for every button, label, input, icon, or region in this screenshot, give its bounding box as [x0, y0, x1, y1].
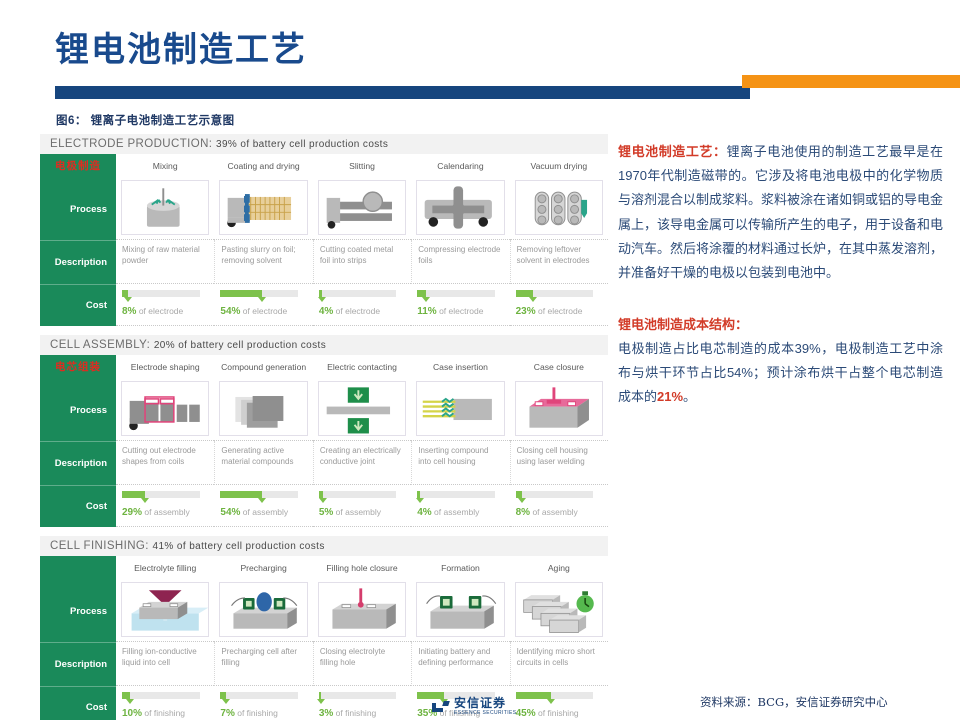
cost-percent: 4% [417, 507, 431, 518]
logo-name-cn: 安信证券 [454, 697, 517, 711]
process-illustration-cell [214, 580, 312, 642]
section-header: CELL FINISHING: 41% of battery cell prod… [40, 536, 608, 556]
cost-percent: 54% [220, 306, 240, 317]
electric-contacting-icon [318, 381, 406, 436]
process-step-label: Slitting [313, 154, 411, 178]
note-block-2-heading: 锂电池制造成本结构： [618, 313, 943, 337]
process-step-column[interactable]: Case insertionInserting compound into ce… [411, 355, 509, 527]
cost-label: 45% of finishing [516, 708, 600, 719]
process-step-column[interactable]: Electric contactingCreating an electrica… [313, 355, 411, 527]
section-rail: 电极制造ProcessDescriptionCost [40, 154, 116, 326]
section-cost-share: 20% of battery cell production costs [154, 340, 326, 351]
cost-percent: 54% [220, 507, 240, 518]
cost-bar [516, 491, 594, 498]
header-rule-orange [742, 75, 960, 88]
process-step-description: Removing leftover solvent in electrodes [510, 240, 608, 284]
vacuum-oven-icon [515, 180, 603, 235]
process-step-cost: 11% of electrode [411, 284, 509, 326]
section-cost-share: 41% of battery cell production costs [152, 541, 324, 552]
cost-label: 4% of assembly [417, 507, 501, 518]
case-insertion-icon [416, 381, 504, 436]
cost-percent: 7% [220, 708, 234, 719]
process-illustration-cell [313, 379, 411, 441]
process-step-label: Electrode shaping [116, 355, 214, 379]
cost-bar [122, 692, 200, 699]
process-step-cost: 8% of electrode [116, 284, 214, 326]
cost-unit: of assembly [434, 507, 479, 517]
cost-percent: 3% [319, 708, 333, 719]
process-step-label: Electrolyte filling [116, 556, 214, 580]
section-columns: Electrolyte fillingFilling ion-conductiv… [116, 556, 608, 720]
cost-unit: of electrode [336, 306, 380, 316]
process-step-cost: 5% of assembly [313, 485, 411, 527]
process-illustration-cell [313, 178, 411, 240]
process-step-label: Case closure [510, 355, 608, 379]
process-step-description: Filling ion-conductive liquid into cell [116, 642, 214, 686]
section-cost-share: 39% of battery cell production costs [216, 139, 388, 150]
cost-bar [417, 290, 495, 297]
cost-bar [122, 491, 200, 498]
cost-unit: of assembly [336, 507, 381, 517]
process-step-column[interactable]: SlittingCutting coated metal foil into s… [313, 154, 411, 326]
aging-stopwatch-icon [515, 582, 603, 637]
process-step-column[interactable]: Electrolyte fillingFilling ion-conductiv… [116, 556, 214, 720]
cost-percent: 45% [516, 708, 536, 719]
cost-bar [319, 491, 397, 498]
electrode-shaping-icon [121, 381, 209, 436]
logo-name-en: ESSENCE SECURITIES [454, 711, 517, 717]
cost-unit: of finishing [538, 708, 579, 718]
rail-label-process: Process [40, 178, 116, 240]
rail-label-description: Description [40, 441, 116, 485]
cost-unit: of finishing [336, 708, 377, 718]
cost-label: 3% of finishing [319, 708, 403, 719]
process-illustration-cell [214, 379, 312, 441]
process-step-label: Aging [510, 556, 608, 580]
process-step-description: Pasting slurry on foil; removing solvent [214, 240, 312, 284]
rail-title-cn: 电芯组装 [40, 355, 116, 379]
slide-page: 锂电池制造工艺 图6： 锂离子电池制造工艺示意图 ELECTRODE PRODU… [0, 0, 960, 720]
cost-percent: 23% [516, 306, 536, 317]
rail-label-description: Description [40, 642, 116, 686]
rail-label-cost: Cost [40, 485, 116, 527]
cost-bar [516, 290, 594, 297]
diagram-section: CELL ASSEMBLY: 20% of battery cell produ… [40, 335, 608, 527]
cost-bar [220, 692, 298, 699]
process-step-column[interactable]: AgingIdentifying micro short circuits in… [510, 556, 608, 720]
diagram-section: ELECTRODE PRODUCTION: 39% of battery cel… [40, 134, 608, 326]
cost-percent: 5% [319, 507, 333, 518]
process-step-label: Coating and drying [214, 154, 312, 178]
process-step-column[interactable]: Coating and dryingPasting slurry on foil… [214, 154, 312, 326]
process-step-cost: 8% of assembly [510, 485, 608, 527]
cost-unit: of electrode [243, 306, 287, 316]
source-note: 资料来源：BCG，安信证券研究中心 [700, 694, 888, 710]
cost-bar [220, 290, 298, 297]
rail-label-process: Process [40, 580, 116, 642]
note-block-1-body: 锂离子电池使用的制造工艺最早是在1970年代制造磁带的。它涉及将电池电极中的化学… [618, 144, 943, 280]
note-block-2-highlight: 21% [657, 389, 683, 404]
cost-percent: 4% [319, 306, 333, 317]
process-step-description: Closing cell housing using laser welding [510, 441, 608, 485]
process-step-column[interactable]: Vacuum dryingRemoving leftover solvent i… [510, 154, 608, 326]
slitting-blade-icon [318, 180, 406, 235]
diagram-section: CELL FINISHING: 41% of battery cell prod… [40, 536, 608, 720]
cost-unit: of electrode [139, 306, 183, 316]
section-name: ELECTRODE PRODUCTION: [50, 138, 212, 150]
hole-closure-icon [318, 582, 406, 637]
formation-icon [416, 582, 504, 637]
process-step-cost: 4% of electrode [313, 284, 411, 326]
process-step-label: Calendaring [411, 154, 509, 178]
section-columns: Electrode shapingCutting out electrode s… [116, 355, 608, 527]
process-illustration-cell [116, 580, 214, 642]
process-step-description: Compressing electrode foils [411, 240, 509, 284]
cost-label: 10% of finishing [122, 708, 206, 719]
process-step-column[interactable]: Filling hole closureClosing electrolyte … [313, 556, 411, 720]
process-step-cost: 45% of finishing [510, 686, 608, 720]
rail-title-cn: 电极制造 [40, 154, 116, 178]
cost-bar [319, 692, 397, 699]
note-block-1-heading: 锂电池制造工艺： [618, 144, 727, 159]
cost-label: 54% of assembly [220, 507, 304, 518]
process-illustration-cell [510, 379, 608, 441]
process-step-description: Generating active material compounds [214, 441, 312, 485]
cost-percent: 8% [122, 306, 136, 317]
cost-bar [516, 692, 594, 699]
cost-label: 11% of electrode [417, 306, 501, 317]
figure-caption: 图6： 锂离子电池制造工艺示意图 [56, 112, 235, 128]
calendaring-press-icon [416, 180, 504, 235]
process-step-cost: 29% of assembly [116, 485, 214, 527]
process-illustration-cell [116, 178, 214, 240]
cost-percent: 10% [122, 708, 142, 719]
cost-label: 4% of electrode [319, 306, 403, 317]
process-illustration-cell [214, 178, 312, 240]
section-grid: ProcessDescriptionCostElectrolyte fillin… [40, 556, 608, 720]
process-step-column[interactable]: Case closureClosing cell housing using l… [510, 355, 608, 527]
coating-roller-icon [219, 180, 307, 235]
cost-bar [220, 491, 298, 498]
process-step-cost: 7% of finishing [214, 686, 312, 720]
process-step-description: Inserting compound into cell housing [411, 441, 509, 485]
stacked-sheets-icon [219, 381, 307, 436]
notes-spacer [618, 287, 943, 313]
process-step-description: Precharging cell after filling [214, 642, 312, 686]
process-step-cost: 3% of finishing [313, 686, 411, 720]
process-step-cost: 54% of electrode [214, 284, 312, 326]
cost-label: 5% of assembly [319, 507, 403, 518]
process-illustration-cell [411, 178, 509, 240]
section-header: CELL ASSEMBLY: 20% of battery cell produ… [40, 335, 608, 355]
cost-bar [319, 290, 397, 297]
cost-label: 8% of assembly [516, 507, 600, 518]
cost-label: 54% of electrode [220, 306, 304, 317]
mixing-vessel-icon [121, 180, 209, 235]
cost-unit: of electrode [439, 306, 483, 316]
section-name: CELL FINISHING: [50, 540, 149, 552]
section-header: ELECTRODE PRODUCTION: 39% of battery cel… [40, 134, 608, 154]
cost-percent: 29% [122, 507, 142, 518]
cost-unit: of electrode [538, 306, 582, 316]
cost-unit: of assembly [243, 507, 288, 517]
section-grid: 电芯组装ProcessDescriptionCostElectrode shap… [40, 355, 608, 527]
section-columns: MixingMixing of raw material powder8% of… [116, 154, 608, 326]
section-rail: 电芯组装ProcessDescriptionCost [40, 355, 116, 527]
company-logo: 安信证券 ESSENCE SECURITIES [432, 697, 517, 717]
cost-label: 7% of finishing [220, 708, 304, 719]
section-name: CELL ASSEMBLY: [50, 339, 150, 351]
process-step-cost: 54% of assembly [214, 485, 312, 527]
section-grid: 电极制造ProcessDescriptionCostMixingMixing o… [40, 154, 608, 326]
header-rule-blue [55, 86, 750, 99]
process-step-label: Electric contacting [313, 355, 411, 379]
process-step-description: Identifying micro short circuits in cell… [510, 642, 608, 686]
process-step-cost: 4% of assembly [411, 485, 509, 527]
note-block-1: 锂电池制造工艺：锂离子电池使用的制造工艺最早是在1970年代制造磁带的。它涉及将… [618, 140, 943, 285]
rail-title-cn [40, 556, 116, 580]
precharging-icon [219, 582, 307, 637]
process-step-description: Creating an electrically conductive join… [313, 441, 411, 485]
cost-unit: of assembly [532, 507, 577, 517]
cost-bar [417, 491, 495, 498]
cost-unit: of finishing [144, 708, 185, 718]
process-illustration-cell [411, 379, 509, 441]
process-step-description: Mixing of raw material powder [116, 240, 214, 284]
cost-unit: of assembly [144, 507, 189, 517]
process-step-cost: 23% of electrode [510, 284, 608, 326]
process-step-label: Compound generation [214, 355, 312, 379]
process-step-cost: 10% of finishing [116, 686, 214, 720]
rail-label-process: Process [40, 379, 116, 441]
process-step-description: Initiating battery and defining performa… [411, 642, 509, 686]
cost-label: 23% of electrode [516, 306, 600, 317]
process-illustration-cell [510, 178, 608, 240]
notes-panel: 锂电池制造工艺：锂离子电池使用的制造工艺最早是在1970年代制造磁带的。它涉及将… [618, 140, 943, 410]
rail-label-cost: Cost [40, 284, 116, 326]
cost-percent: 8% [516, 507, 530, 518]
process-illustration-cell [116, 379, 214, 441]
process-step-label: Case insertion [411, 355, 509, 379]
cost-label: 8% of electrode [122, 306, 206, 317]
process-step-description: Closing electrolyte filling hole [313, 642, 411, 686]
process-step-label: Formation [411, 556, 509, 580]
process-diagram: ELECTRODE PRODUCTION: 39% of battery cel… [40, 134, 608, 690]
rail-label-description: Description [40, 240, 116, 284]
process-illustration-cell [411, 580, 509, 642]
cost-unit: of finishing [237, 708, 278, 718]
rail-label-cost: Cost [40, 686, 116, 720]
process-step-description: Cutting coated metal foil into strips [313, 240, 411, 284]
process-step-label: Filling hole closure [313, 556, 411, 580]
note-block-2: 电极制造占比电芯制造的成本39%，电极制造工艺中涂布与烘干环节占比54%；预计涂… [618, 337, 943, 410]
page-title-container: 锂电池制造工艺 [55, 32, 307, 69]
process-step-label: Mixing [116, 154, 214, 178]
process-step-label: Vacuum drying [510, 154, 608, 178]
process-illustration-cell [510, 580, 608, 642]
laser-welding-icon [515, 381, 603, 436]
process-step-description: Cutting out electrode shapes from coils [116, 441, 214, 485]
process-step-column[interactable]: Electrode shapingCutting out electrode s… [116, 355, 214, 527]
process-step-column[interactable]: Compound generationGenerating active mat… [214, 355, 312, 527]
electrolyte-funnel-icon [121, 582, 209, 637]
essence-logo-icon [432, 701, 449, 713]
process-step-label: Precharging [214, 556, 312, 580]
process-step-column[interactable]: CalendaringCompressing electrode foils11… [411, 154, 509, 326]
cost-percent: 11% [417, 306, 436, 317]
section-rail: ProcessDescriptionCost [40, 556, 116, 720]
note-block-2-body-post: 。 [683, 389, 696, 404]
process-step-column[interactable]: PrechargingPrecharging cell after fillin… [214, 556, 312, 720]
cost-bar [122, 290, 200, 297]
page-title: 锂电池制造工艺 [55, 32, 307, 69]
process-illustration-cell [313, 580, 411, 642]
process-step-column[interactable]: MixingMixing of raw material powder8% of… [116, 154, 214, 326]
cost-label: 29% of assembly [122, 507, 206, 518]
